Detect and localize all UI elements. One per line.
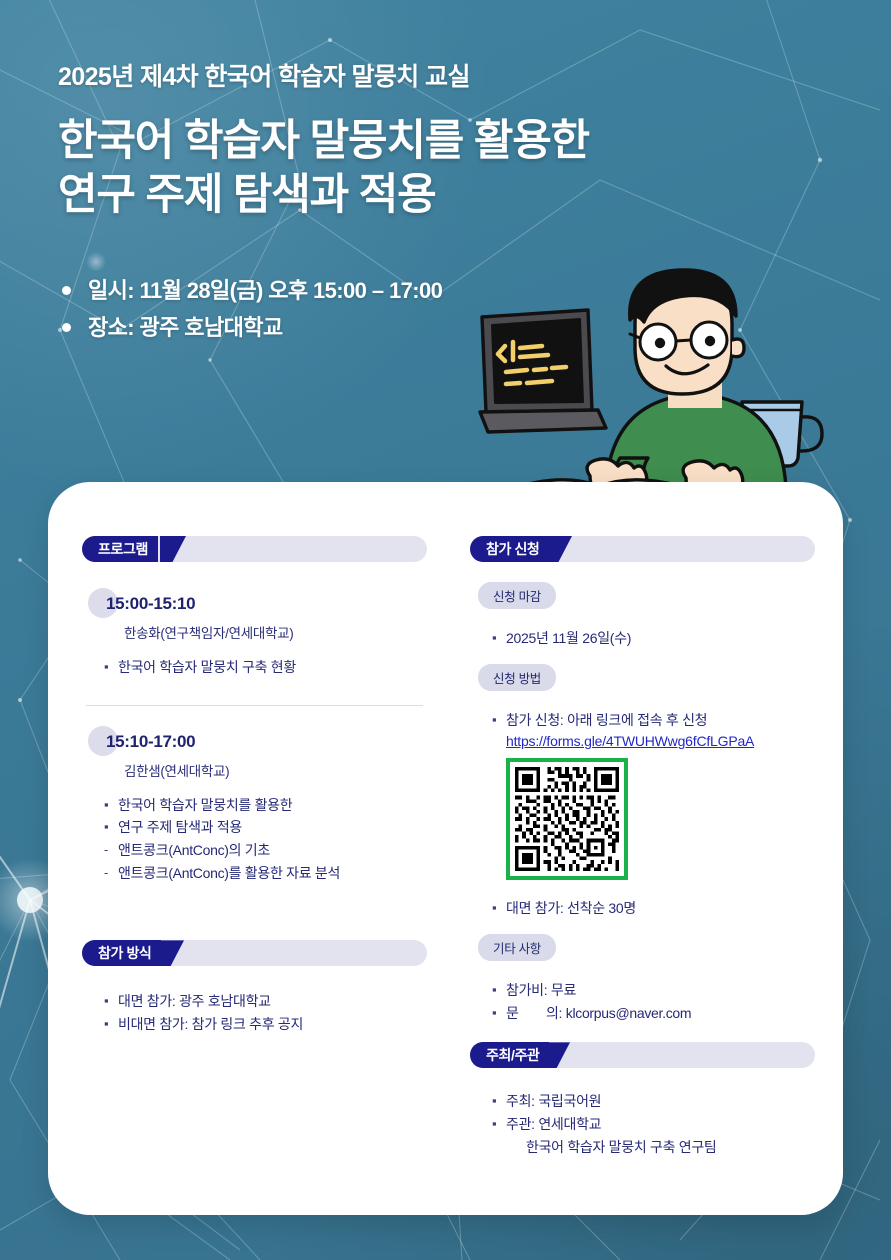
page-title: 한국어 학습자 말뭉치를 활용한 연구 주제 탐색과 적용 — [58, 114, 758, 222]
bullet-marker: ▪ — [492, 1002, 506, 1023]
other-pill-label: 기타 사항 — [478, 934, 556, 961]
slot-topic-list: ▪ 한국어 학습자 말뭉치를 활용한 ▪ 연구 주제 탐색과 적용 - 앤트콩크… — [104, 794, 427, 885]
bullet-marker: ▪ — [104, 816, 118, 837]
bullet-marker: ▪ — [492, 1090, 506, 1111]
list-item-text: 2025년 11월 26일(수) — [506, 627, 631, 650]
section-tab: 참가 방식 — [82, 940, 161, 966]
list-item-text: 주최: 국립국어원 — [506, 1090, 601, 1113]
capacity-list: ▪ 대면 참가: 선착순 30명 — [492, 897, 815, 920]
section-label: 참가 신청 — [486, 539, 539, 559]
bullet-marker: ▪ — [492, 1113, 506, 1134]
bullet-marker: ▪ — [104, 990, 118, 1011]
list-item: ▪ 한국어 학습자 말뭉치를 활용한 — [104, 794, 427, 817]
list-item-text: 연구 주제 탐색과 적용 — [118, 816, 242, 839]
host-list: ▪ 주최: 국립국어원 ▪ 주관: 연세대학교 — [492, 1090, 815, 1135]
list-item-text: 비대면 참가: 참가 링크 추후 공지 — [118, 1013, 303, 1036]
list-item: - 앤트콩크(AntConc)를 활용한 자료 분석 — [104, 862, 427, 885]
list-item-text: 한국어 학습자 말뭉치 구축 현황 — [118, 656, 296, 679]
list-item-text: 참가비: 무료 — [506, 979, 576, 1002]
section-label: 참가 방식 — [98, 943, 151, 963]
section-header-program: 프로그램 — [82, 536, 427, 562]
qr-code-container[interactable] — [506, 758, 815, 885]
list-item: - 앤트콩크(AntConc)의 기초 — [104, 839, 427, 862]
list-item: ▪ 연구 주제 탐색과 적용 — [104, 816, 427, 839]
bullet-marker: ▪ — [104, 1013, 118, 1034]
slot-time: 15:10-17:00 — [106, 732, 427, 752]
bullet-marker: ▪ — [492, 627, 506, 648]
section-tab: 주최/주관 — [470, 1042, 549, 1068]
fact-location-text: 장소: 광주 호남대학교 — [88, 313, 283, 343]
section-header-host: 주최/주관 — [470, 1042, 815, 1068]
list-item: ▪ 참가비: 무료 — [492, 979, 815, 1002]
list-item-text: 대면 참가: 선착순 30명 — [506, 897, 636, 920]
deadline-pill-label: 신청 마감 — [478, 582, 556, 609]
list-item: ▪ 참가 신청: 아래 링크에 접속 후 신청 — [492, 709, 815, 732]
list-item-text: 앤트콩크(AntConc)의 기초 — [118, 839, 270, 862]
bullet-marker: ▪ — [104, 656, 118, 677]
bullet-dot-icon — [62, 323, 71, 332]
program-slot-1: 15:00-15:10 한송화(연구책임자/연세대학교) ▪ 한국어 학습자 말… — [82, 568, 427, 679]
list-item-text: 한국어 학습자 말뭉치를 활용한 — [118, 794, 292, 817]
method-pill-label: 신청 방법 — [478, 664, 556, 691]
bullet-marker: ▪ — [492, 979, 506, 1000]
list-item: ▪ 대면 참가: 선착순 30명 — [492, 897, 815, 920]
section-label: 프로그램 — [98, 539, 148, 559]
section-header-attend-method: 참가 방식 — [82, 940, 427, 966]
dash-marker: - — [104, 862, 118, 883]
list-item-text: 앤트콩크(AntConc)를 활용한 자료 분석 — [118, 862, 340, 885]
list-item: ▪ 주관: 연세대학교 — [492, 1113, 815, 1136]
bullet-dot-icon — [62, 286, 71, 295]
other-list: ▪ 참가비: 무료 ▪ 문 의: klcorpus@naver.com — [492, 979, 815, 1024]
title-line-1: 한국어 학습자 말뭉치를 활용한 — [58, 114, 758, 168]
section-tab: 프로그램 — [82, 536, 158, 562]
left-column: 프로그램 15:00-15:10 한송화(연구책임자/연세대학교) ▪ 한국어 … — [82, 536, 427, 1036]
list-item: ▪ 2025년 11월 26일(수) — [492, 627, 815, 650]
slot-speaker: 한송화(연구책임자/연세대학교) — [124, 622, 427, 642]
list-item-text: 참가 신청: 아래 링크에 접속 후 신청 — [506, 709, 707, 732]
right-column: 참가 신청 신청 마감 ▪ 2025년 11월 26일(수) 신청 방법 ▪ 참… — [470, 536, 815, 1158]
section-tab: 참가 신청 — [470, 536, 549, 562]
registration-form-link[interactable]: https://forms.gle/4TWUHWwg6fCfLGPaA — [506, 733, 815, 749]
slot-topic-list: ▪ 한국어 학습자 말뭉치 구축 현황 — [104, 656, 427, 679]
list-item-text: 문 의: klcorpus@naver.com — [506, 1002, 691, 1025]
list-item: ▪ 한국어 학습자 말뭉치 구축 현황 — [104, 656, 427, 679]
attend-method-list: ▪ 대면 참가: 광주 호남대학교 ▪ 비대면 참가: 참가 링크 추후 공지 — [104, 990, 427, 1035]
content-card: 프로그램 15:00-15:10 한송화(연구책임자/연세대학교) ▪ 한국어 … — [48, 482, 843, 1215]
qr-code-icon[interactable] — [506, 758, 628, 880]
method-list: ▪ 참가 신청: 아래 링크에 접속 후 신청 — [492, 709, 815, 732]
bullet-marker: ▪ — [492, 709, 506, 730]
bullet-marker: ▪ — [492, 897, 506, 918]
list-item-text: 주관: 연세대학교 — [506, 1113, 601, 1136]
deadline-list: ▪ 2025년 11월 26일(수) — [492, 627, 815, 650]
section-header-registration: 참가 신청 — [470, 536, 815, 562]
section-label: 주최/주관 — [486, 1045, 539, 1065]
slot-speaker: 김한샘(연세대학교) — [124, 760, 427, 780]
dash-marker: - — [104, 839, 118, 860]
bullet-marker: ▪ — [104, 794, 118, 815]
kicker-text: 2025년 제4차 한국어 학습자 말뭉치 교실 — [58, 62, 758, 92]
list-item-text: 대면 참가: 광주 호남대학교 — [118, 990, 271, 1013]
list-item: ▪ 주최: 국립국어원 — [492, 1090, 815, 1113]
poster-root: 2025년 제4차 한국어 학습자 말뭉치 교실 한국어 학습자 말뭉치를 활용… — [0, 0, 891, 1260]
title-line-2: 연구 주제 탐색과 적용 — [58, 168, 758, 222]
host-subline: 한국어 학습자 말뭉치 구축 연구팀 — [526, 1136, 815, 1159]
poster-header: 2025년 제4차 한국어 학습자 말뭉치 교실 한국어 학습자 말뭉치를 활용… — [58, 62, 758, 222]
program-slot-2: 15:10-17:00 김한샘(연세대학교) ▪ 한국어 학습자 말뭉치를 활용… — [82, 706, 427, 885]
laptop-icon — [480, 310, 606, 432]
list-item: ▪ 비대면 참가: 참가 링크 추후 공지 — [104, 1013, 427, 1036]
list-item: ▪ 대면 참가: 광주 호남대학교 — [104, 990, 427, 1013]
slot-time: 15:00-15:10 — [106, 594, 427, 614]
list-item: ▪ 문 의: klcorpus@naver.com — [492, 1002, 815, 1025]
fact-datetime-text: 일시: 11월 28일(금) 오후 15:00 – 17:00 — [88, 276, 442, 306]
